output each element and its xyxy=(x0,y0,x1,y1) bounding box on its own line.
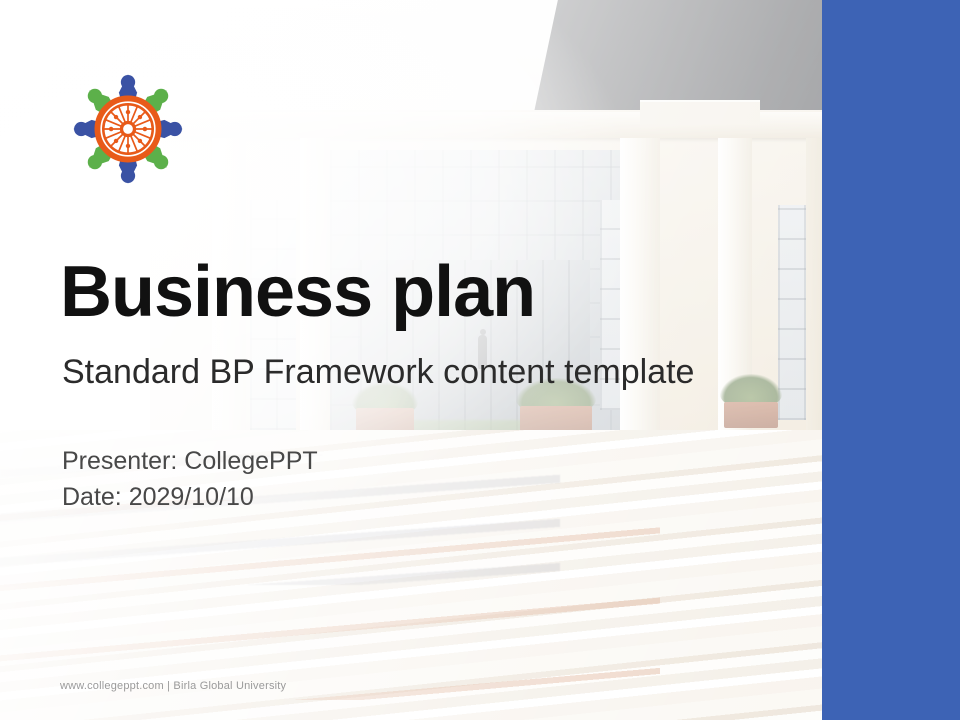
slide-footer: www.collegeppt.com | Birla Global Univer… xyxy=(60,680,286,692)
university-logo xyxy=(60,64,196,194)
slide-subtitle: Standard BP Framework content template xyxy=(62,352,694,393)
slide-title: Business plan xyxy=(60,255,535,331)
slide-meta-block: Presenter: CollegePPT Date: 2029/10/10 xyxy=(62,443,318,515)
presentation-slide: Business plan Standard BP Framework cont… xyxy=(0,0,960,720)
presenter-line: Presenter: CollegePPT xyxy=(62,443,318,479)
konark-wheel-icon xyxy=(97,98,158,159)
date-line: Date: 2029/10/10 xyxy=(62,479,318,515)
